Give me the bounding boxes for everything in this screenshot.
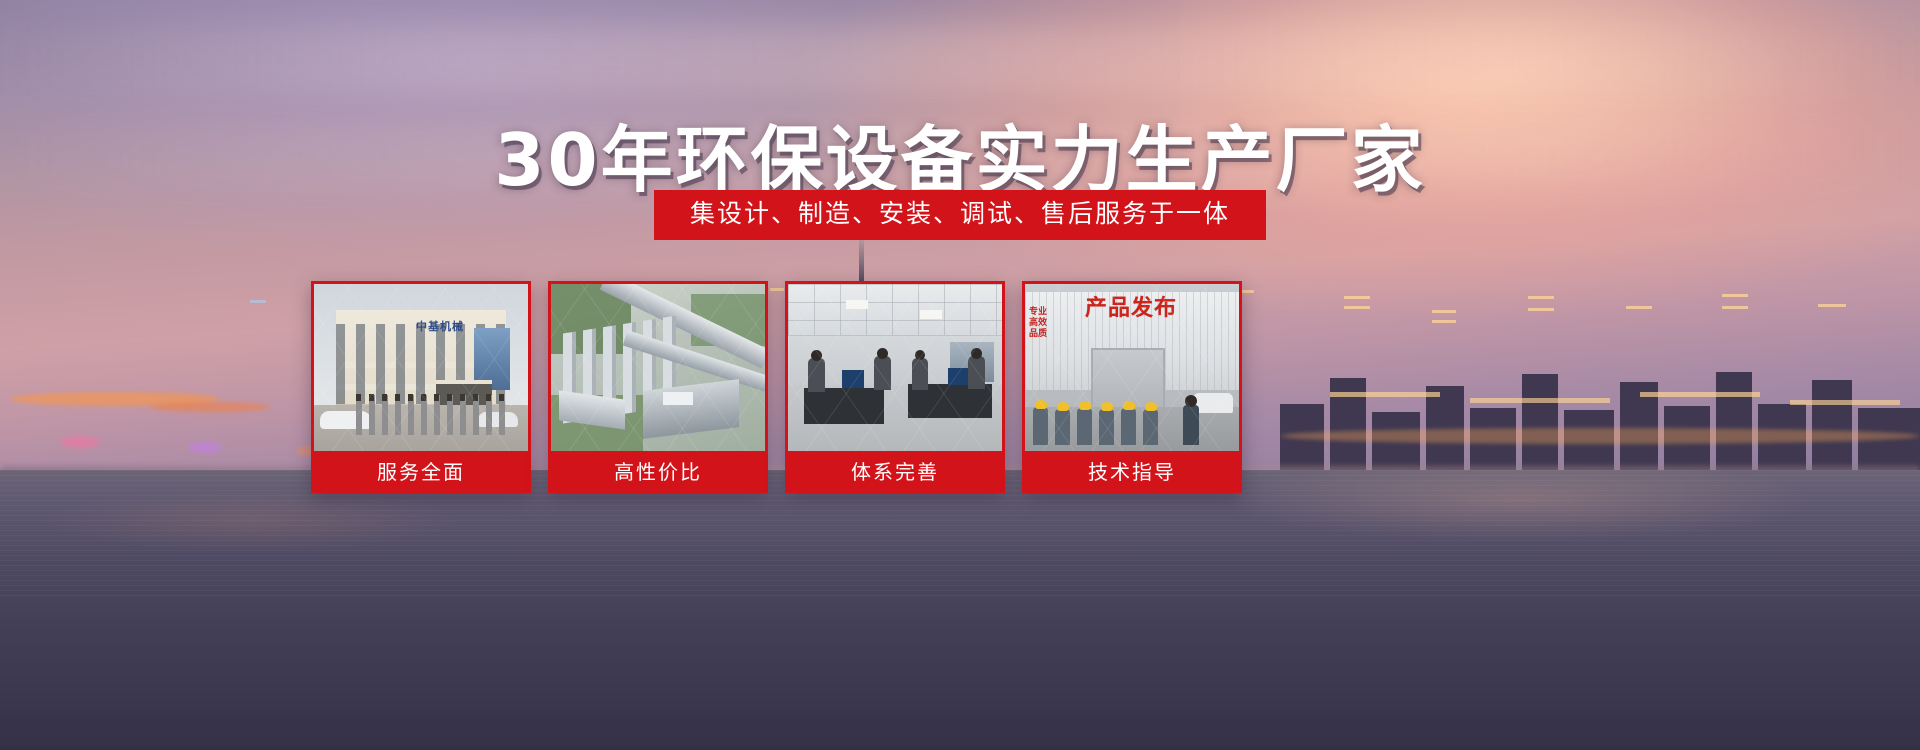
aerial-plant-photo (551, 284, 765, 451)
feature-card-label: 服务全面 (314, 451, 528, 490)
feature-card-label: 体系完善 (788, 451, 1002, 490)
riverside-light-glow (1280, 428, 1920, 444)
office-interior-photo (788, 284, 1002, 451)
factory-workers-photo: 专业高效品质 产品发布 (1025, 284, 1239, 451)
feature-card-label: 高性价比 (551, 451, 765, 490)
hero-banner: 30年环保设备实力生产厂家 集设计、制造、安装、调试、售后服务于一体 中基机械 (0, 0, 1920, 750)
feature-card[interactable]: 体系完善 (785, 281, 1005, 493)
park-lamp-glow (188, 442, 222, 453)
banner-subtitle-container: 集设计、制造、安装、调试、售后服务于一体 (0, 190, 1920, 240)
feature-card[interactable]: 中基机械 服务全面 (311, 281, 531, 493)
feature-card-list: 中基机械 服务全面 (311, 281, 1242, 493)
feature-card[interactable]: 高性价比 (548, 281, 768, 493)
park-lamp-glow (60, 436, 100, 448)
office-building-staff-photo: 中基机械 (314, 284, 528, 451)
factory-wall-slogan: 专业高效品质 (1029, 306, 1081, 336)
feature-card-label: 技术指导 (1025, 451, 1239, 490)
banner-subtitle-bar: 集设计、制造、安装、调试、售后服务于一体 (654, 190, 1266, 240)
feature-card[interactable]: 专业高效品质 产品发布 技术指导 (1022, 281, 1242, 493)
factory-banner-text: 产品发布 (1085, 296, 1235, 322)
riverside-light-glow (150, 402, 270, 412)
